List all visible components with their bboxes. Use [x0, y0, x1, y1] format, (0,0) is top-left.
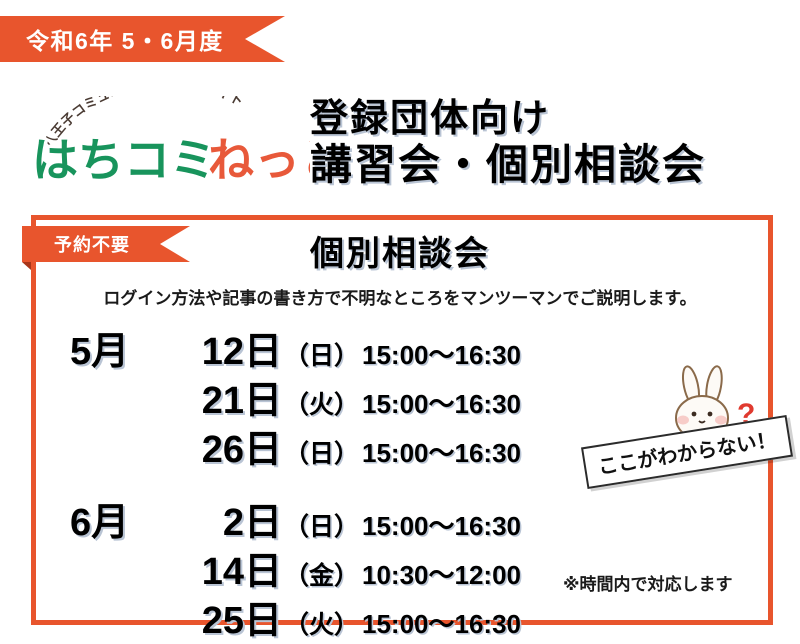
schedule-group-may: 5月 12日 （日） 15:00〜16:30 21日 （火） 15:00〜16:…: [70, 320, 590, 467]
ribbon-notch-icon: [160, 226, 190, 262]
schedule-day: 14日: [152, 540, 282, 595]
schedule-group-june: 6月 2日 （日） 15:00〜16:30 14日 （金） 10:30〜12:0…: [70, 491, 590, 638]
schedule-time: 15:00〜16:30: [359, 604, 521, 641]
site-logo: 八王子コミュニティ活動応援サイト はちコミ ねっと: [30, 96, 310, 196]
banner-notch-icon: [245, 16, 285, 62]
reservation-ribbon: 予約不要: [22, 226, 190, 262]
schedule-weekday: （日）: [282, 434, 359, 470]
schedule-day: 2日: [152, 491, 282, 546]
schedule-weekday: （日）: [282, 336, 359, 372]
schedule-time: 15:00〜16:30: [359, 384, 521, 421]
schedule-day: 21日: [152, 369, 282, 424]
page-title: 登録団体向け 講習会・個別相談会: [310, 96, 790, 188]
reservation-label: 予約不要: [54, 231, 130, 257]
schedule-row: 6月 2日 （日） 15:00〜16:30: [70, 491, 590, 540]
schedule-weekday: （日）: [282, 507, 359, 543]
logo-name-green: はちコミ: [32, 133, 216, 187]
flyer-canvas: 令和6年 5・6月度 八王子コミュニティ活動応援サイト はちコミ ねっと 登録団…: [0, 0, 800, 639]
period-banner: 令和6年 5・6月度: [0, 16, 285, 62]
section-description: ログイン方法や記事の書き方で不明なところをマンツーマンでご説明します。: [0, 284, 800, 309]
schedule-list: 5月 12日 （日） 15:00〜16:30 21日 （火） 15:00〜16:…: [70, 320, 590, 638]
schedule-time: 15:00〜16:30: [359, 335, 521, 372]
period-label: 令和6年 5・6月度: [26, 22, 224, 56]
schedule-month: 5月: [70, 320, 152, 375]
schedule-weekday: （火）: [282, 385, 359, 421]
schedule-day: 25日: [152, 589, 282, 644]
schedule-time: 10:30〜12:00: [359, 555, 521, 592]
logo-name-orange: ねっと: [208, 133, 310, 187]
schedule-weekday: （金）: [282, 556, 359, 592]
schedule-row: 21日 （火） 15:00〜16:30: [70, 369, 590, 418]
footnote: ※時間内で対応します: [563, 570, 733, 595]
schedule-row: 25日 （火） 15:00〜16:30: [70, 589, 590, 638]
schedule-row: 5月 12日 （日） 15:00〜16:30: [70, 320, 590, 369]
schedule-row: 14日 （金） 10:30〜12:00: [70, 540, 590, 589]
schedule-month: 6月: [70, 491, 152, 546]
schedule-time: 15:00〜16:30: [359, 433, 521, 470]
page-title-line1: 登録団体向け: [310, 96, 790, 142]
schedule-time: 15:00〜16:30: [359, 506, 521, 543]
schedule-day: 26日: [152, 418, 282, 473]
logo-wordmark: はちコミ ねっと: [30, 128, 310, 190]
schedule-row: 26日 （日） 15:00〜16:30: [70, 418, 590, 467]
page-title-line2: 講習会・個別相談会: [310, 142, 790, 188]
schedule-weekday: （火）: [282, 605, 359, 641]
schedule-day: 12日: [152, 320, 282, 375]
